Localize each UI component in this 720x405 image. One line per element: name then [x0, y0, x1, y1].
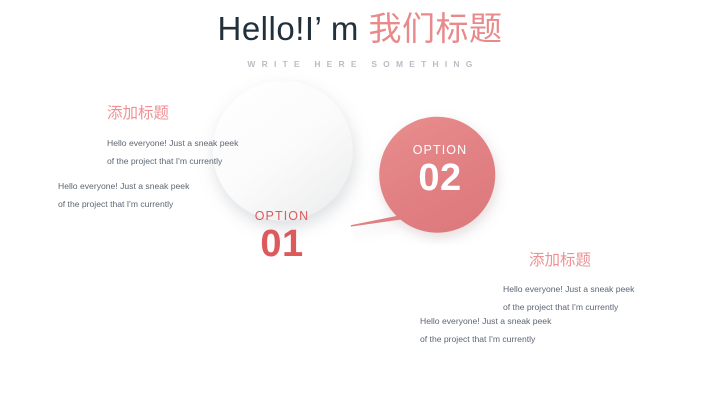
- slide-canvas: Hello!I’ m 我们标题 WRITE HERE SOMETHING: [0, 0, 720, 405]
- left-section-body-primary: Hello everyone! Just a sneak peek of the…: [107, 135, 247, 170]
- right-section-heading: 添加标题: [529, 251, 591, 271]
- right-section-body-primary: Hello everyone! Just a sneak peek of the…: [503, 281, 643, 316]
- left-section-body-secondary: Hello everyone! Just a sneak peek of the…: [58, 178, 198, 213]
- right-section-body-secondary: Hello everyone! Just a sneak peek of the…: [420, 313, 560, 348]
- left-section-heading: 添加标题: [107, 104, 169, 124]
- option-two-shape[interactable]: [327, 117, 495, 233]
